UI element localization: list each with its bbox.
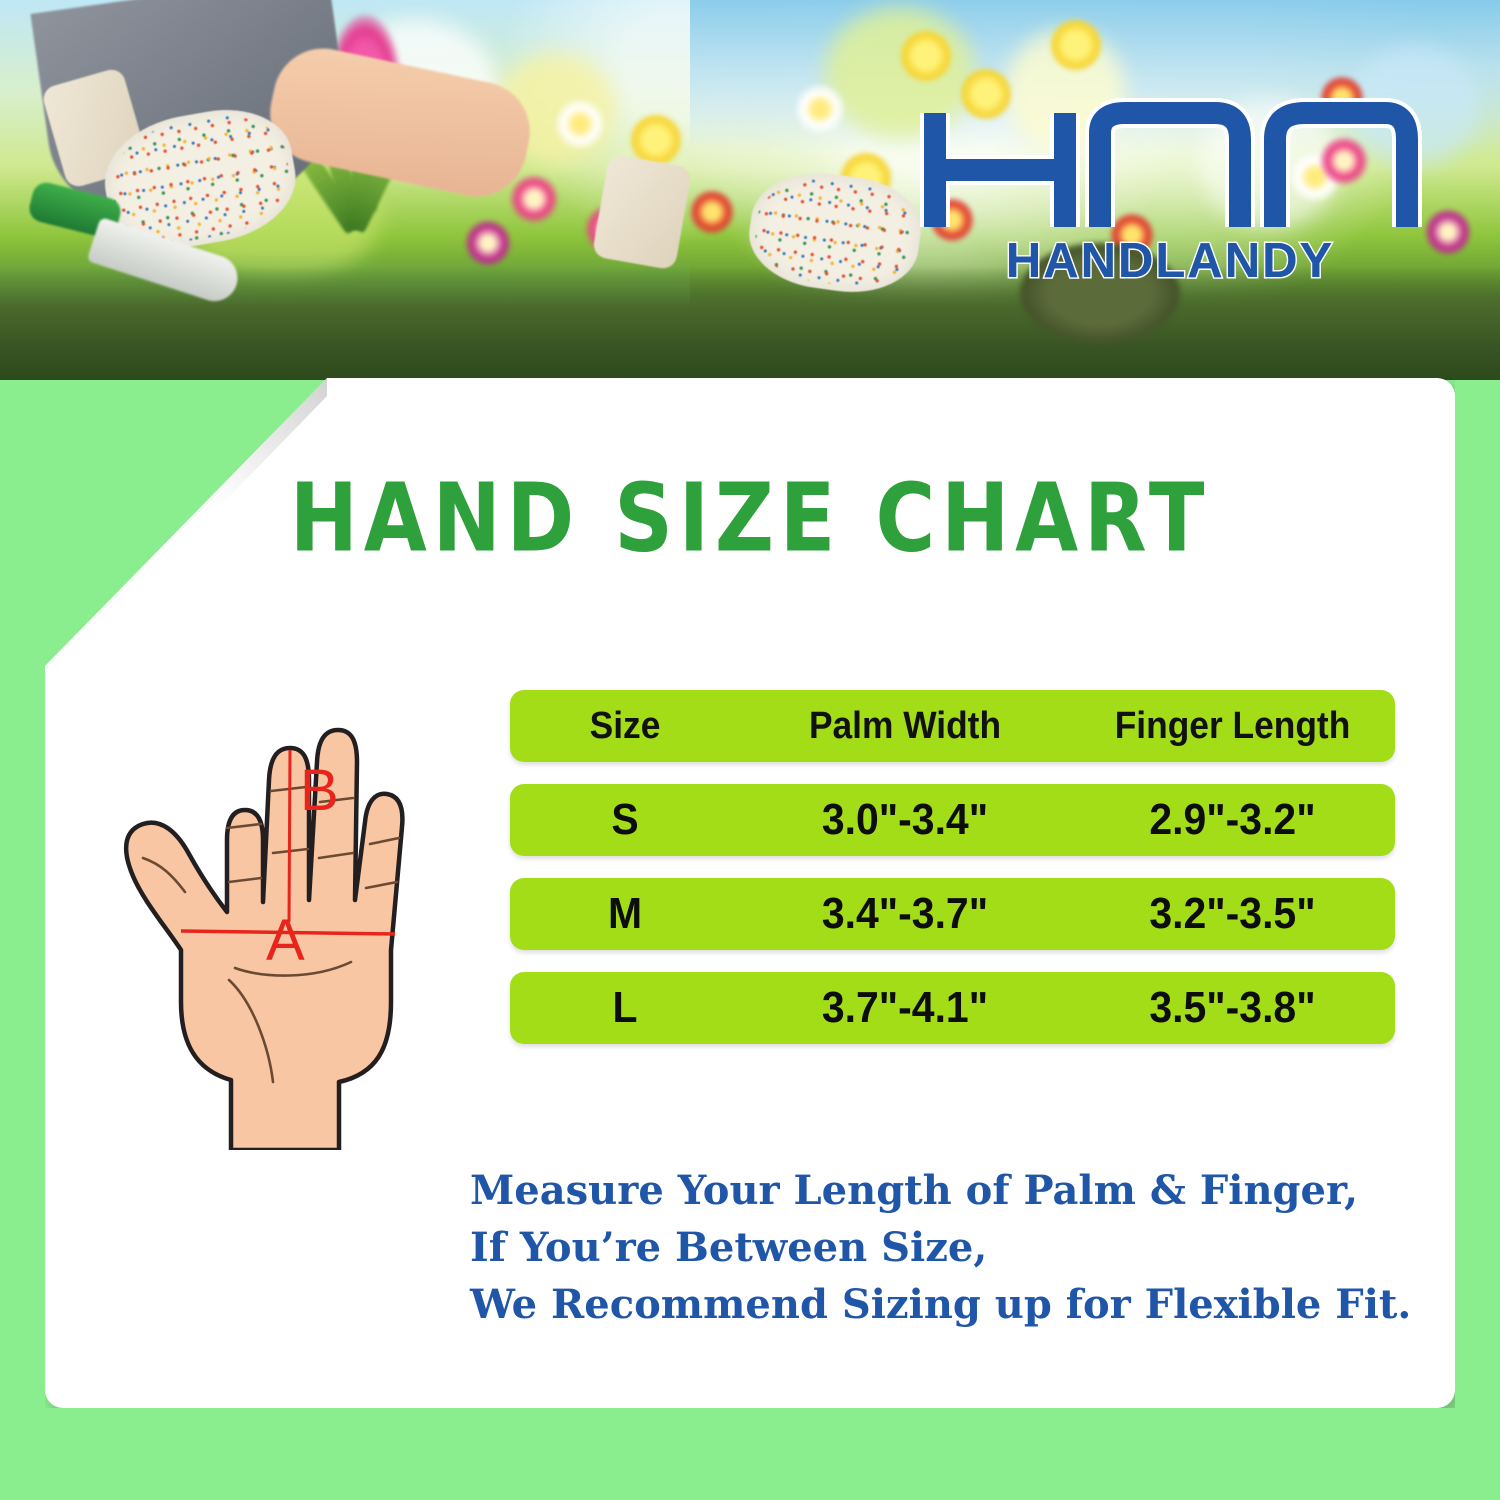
flower-yellow xyxy=(1050,19,1102,71)
hand-measurement-diagram: B A xyxy=(103,650,523,1150)
glove-cuff xyxy=(592,153,693,270)
flower-purple xyxy=(1425,209,1471,255)
instruction-line-1: Measure Your Length of Palm & Finger, xyxy=(470,1163,1430,1220)
marker-label-b: B xyxy=(300,758,339,823)
table-row: M 3.4"-3.7" 3.2"-3.5" xyxy=(510,878,1395,950)
measurement-instructions: Measure Your Length of Palm & Finger, If… xyxy=(470,1163,1430,1333)
table-row: S 3.0"-3.4" 2.9"-3.2" xyxy=(510,784,1395,856)
cell-finger-length: 3.5"-3.8" xyxy=(1081,983,1383,1033)
brand-logo: HANDLANDY HANDLANDY xyxy=(915,95,1425,290)
marker-label-a: A xyxy=(266,908,305,973)
table-header-row: Size Palm Width Finger Length xyxy=(510,690,1395,762)
cell-size: S xyxy=(518,795,732,845)
cell-palm-width: 3.0"-3.4" xyxy=(752,795,1059,845)
flower-white xyxy=(555,99,605,149)
brand-wordmark: HANDLANDY xyxy=(915,233,1425,289)
column-header-palm-width: Palm Width xyxy=(752,705,1059,748)
size-chart-card: HAND SIZE CHART xyxy=(45,378,1455,1408)
hdd-monogram-icon xyxy=(915,95,1425,245)
flower-yellow xyxy=(900,30,952,82)
size-table: Size Palm Width Finger Length S 3.0"-3.4… xyxy=(510,690,1395,1044)
table-row: L 3.7"-4.1" 3.5"-3.8" xyxy=(510,972,1395,1044)
flower-pink xyxy=(510,175,558,223)
column-header-size: Size xyxy=(518,705,732,748)
cell-finger-length: 3.2"-3.5" xyxy=(1081,889,1383,939)
hand-silhouette xyxy=(126,730,402,1150)
cell-size: L xyxy=(518,983,732,1033)
instruction-line-2: If You’re Between Size, xyxy=(470,1220,1430,1277)
page-title: HAND SIZE CHART xyxy=(66,463,1434,573)
cell-palm-width: 3.4"-3.7" xyxy=(752,889,1059,939)
flower-red xyxy=(690,190,734,234)
flower-white xyxy=(795,84,845,134)
column-header-finger-length: Finger Length xyxy=(1081,705,1383,748)
finger-length-line xyxy=(289,750,290,922)
cell-finger-length: 2.9"-3.2" xyxy=(1081,795,1383,845)
cell-palm-width: 3.7"-4.1" xyxy=(752,983,1059,1033)
cell-size: M xyxy=(518,889,732,939)
instruction-line-3: We Recommend Sizing up for Flexible Fit. xyxy=(470,1277,1430,1334)
